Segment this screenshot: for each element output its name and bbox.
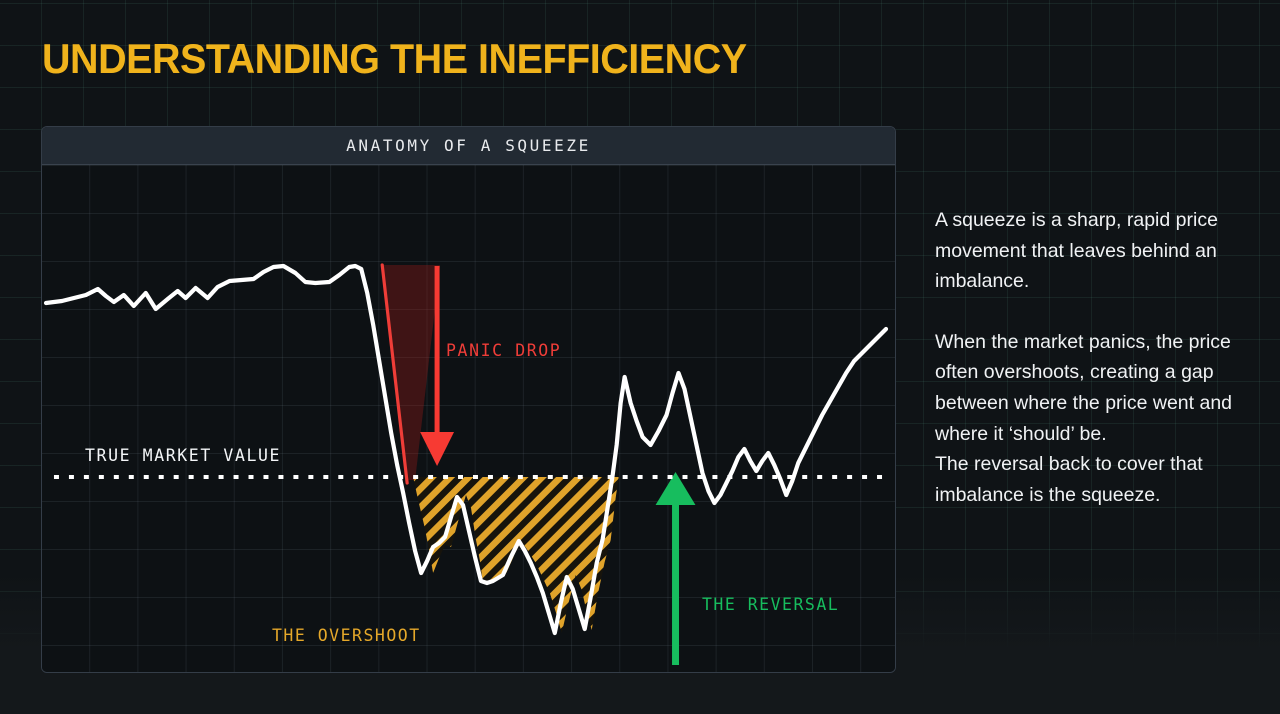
page-title: UNDERSTANDING THE INEFFICIENCY — [42, 36, 747, 82]
reversal-arrow-icon — [656, 472, 696, 665]
chart-panel: ANATOMY OF A SQUEEZE — [41, 126, 896, 673]
squeeze-chart-svg — [42, 165, 895, 673]
chart-title: ANATOMY OF A SQUEEZE — [346, 136, 591, 155]
chart-plot-area: TRUE MARKET VALUE PANIC DROP THE OVERSHO… — [42, 165, 895, 673]
price-line — [46, 266, 886, 633]
description-paragraph-1: A squeeze is a sharp, rapid price moveme… — [935, 205, 1247, 297]
chart-panel-header: ANATOMY OF A SQUEEZE — [42, 127, 895, 165]
description-panel: A squeeze is a sharp, rapid price moveme… — [935, 205, 1247, 510]
description-paragraph-2: When the market panics, the price often … — [935, 327, 1247, 511]
